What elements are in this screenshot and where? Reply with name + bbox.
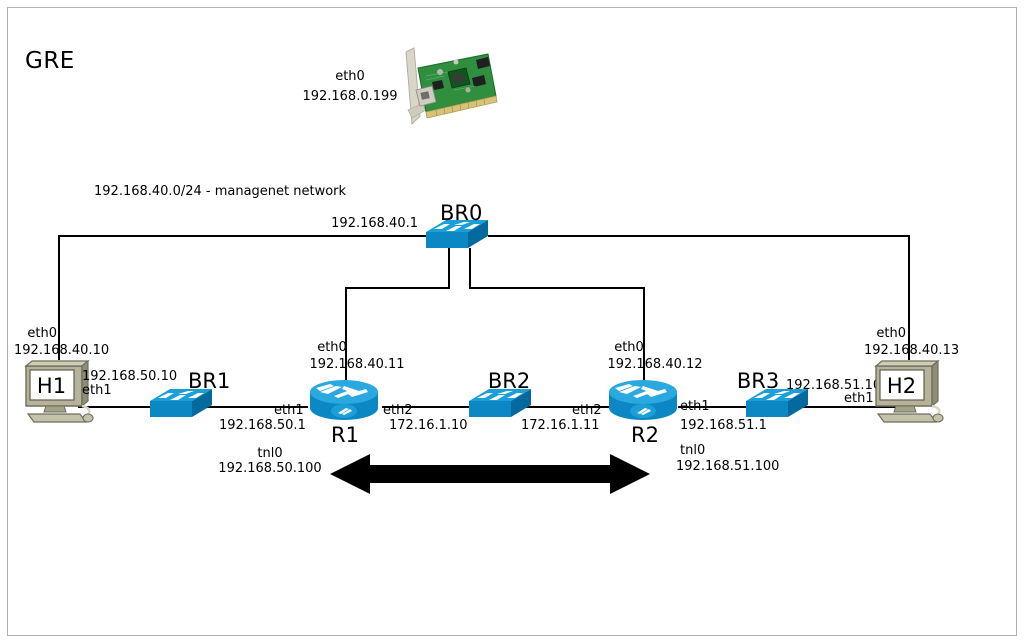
switch-br2-label: BR2	[488, 370, 530, 392]
router-r1-label: R1	[331, 424, 359, 446]
h2-eth0-iface-label: eth0	[876, 327, 906, 341]
wire-mgmt-right	[488, 235, 910, 237]
management-network-label: 192.168.40.0/24 - managenet network	[94, 185, 346, 199]
switch-br0-label: BR0	[440, 202, 482, 224]
h1-eth0-iface-label: eth0	[27, 327, 57, 341]
r1-eth2-ip-label: 172.16.1.10	[389, 419, 468, 433]
r2-eth2-ip-label: 172.16.1.11	[521, 419, 600, 433]
r2-tnl0-ip-label: 192.168.51.100	[676, 460, 779, 474]
r1-eth1-iface-label: eth1	[274, 404, 304, 418]
diagram-page: GRE	[0, 0, 1025, 644]
computer-h2-label: H2	[878, 370, 925, 401]
wire-h1-eth0	[58, 235, 60, 360]
nic-ip-label: 192.168.0.199	[302, 90, 397, 104]
switch-br3-label: BR3	[737, 370, 779, 392]
r1-eth0-iface-label: eth0	[317, 341, 347, 355]
network-interface-card-icon	[396, 44, 500, 130]
wire-mgmt-left	[58, 235, 428, 237]
wire-r1-mgmt-h	[345, 287, 450, 289]
r1-eth0-ip-label: 192.168.40.11	[309, 358, 404, 372]
r1-tnl0-ip-label: 192.168.50.100	[218, 462, 321, 476]
nic-iface-label: eth0	[335, 70, 365, 84]
wire-br0-down-right	[469, 248, 471, 288]
router-r2-label: R2	[631, 424, 659, 446]
router-r2-icon	[607, 378, 679, 424]
wire-h2-eth0	[908, 235, 910, 360]
switch-br1-label: BR1	[188, 370, 230, 392]
computer-h1-label: H1	[28, 370, 75, 401]
h2-eth0-ip-label: 192.168.40.13	[864, 344, 959, 358]
computer-h2-icon: H2	[870, 358, 948, 426]
h1-eth1-ip-label: 192.168.50.10	[82, 370, 177, 384]
r2-eth0-ip-label: 192.168.40.12	[607, 358, 702, 372]
r1-eth1-ip-label: 192.168.50.1	[219, 419, 306, 433]
r2-tnl0-iface-label: tnl0	[680, 444, 705, 458]
wire-r2-mgmt-h	[469, 287, 644, 289]
r2-eth0-iface-label: eth0	[614, 341, 644, 355]
diagram-title: GRE	[25, 48, 75, 74]
h1-eth1-iface-label: eth1	[82, 384, 112, 398]
r1-tnl0-iface-label: tnl0	[257, 447, 282, 461]
switch-br0-ip-label: 192.168.40.1	[331, 217, 418, 231]
router-r1-icon	[308, 378, 380, 424]
h1-eth0-ip-label: 192.168.40.10	[14, 344, 109, 358]
r1-eth2-iface-label: eth2	[383, 404, 413, 418]
r2-eth2-iface-label: eth2	[572, 404, 602, 418]
network-topology-diagram: GRE	[0, 0, 1025, 644]
wire-br0-down-left	[448, 248, 450, 288]
gre-tunnel-arrow	[330, 452, 650, 496]
r2-eth1-iface-label: eth1	[680, 400, 710, 414]
